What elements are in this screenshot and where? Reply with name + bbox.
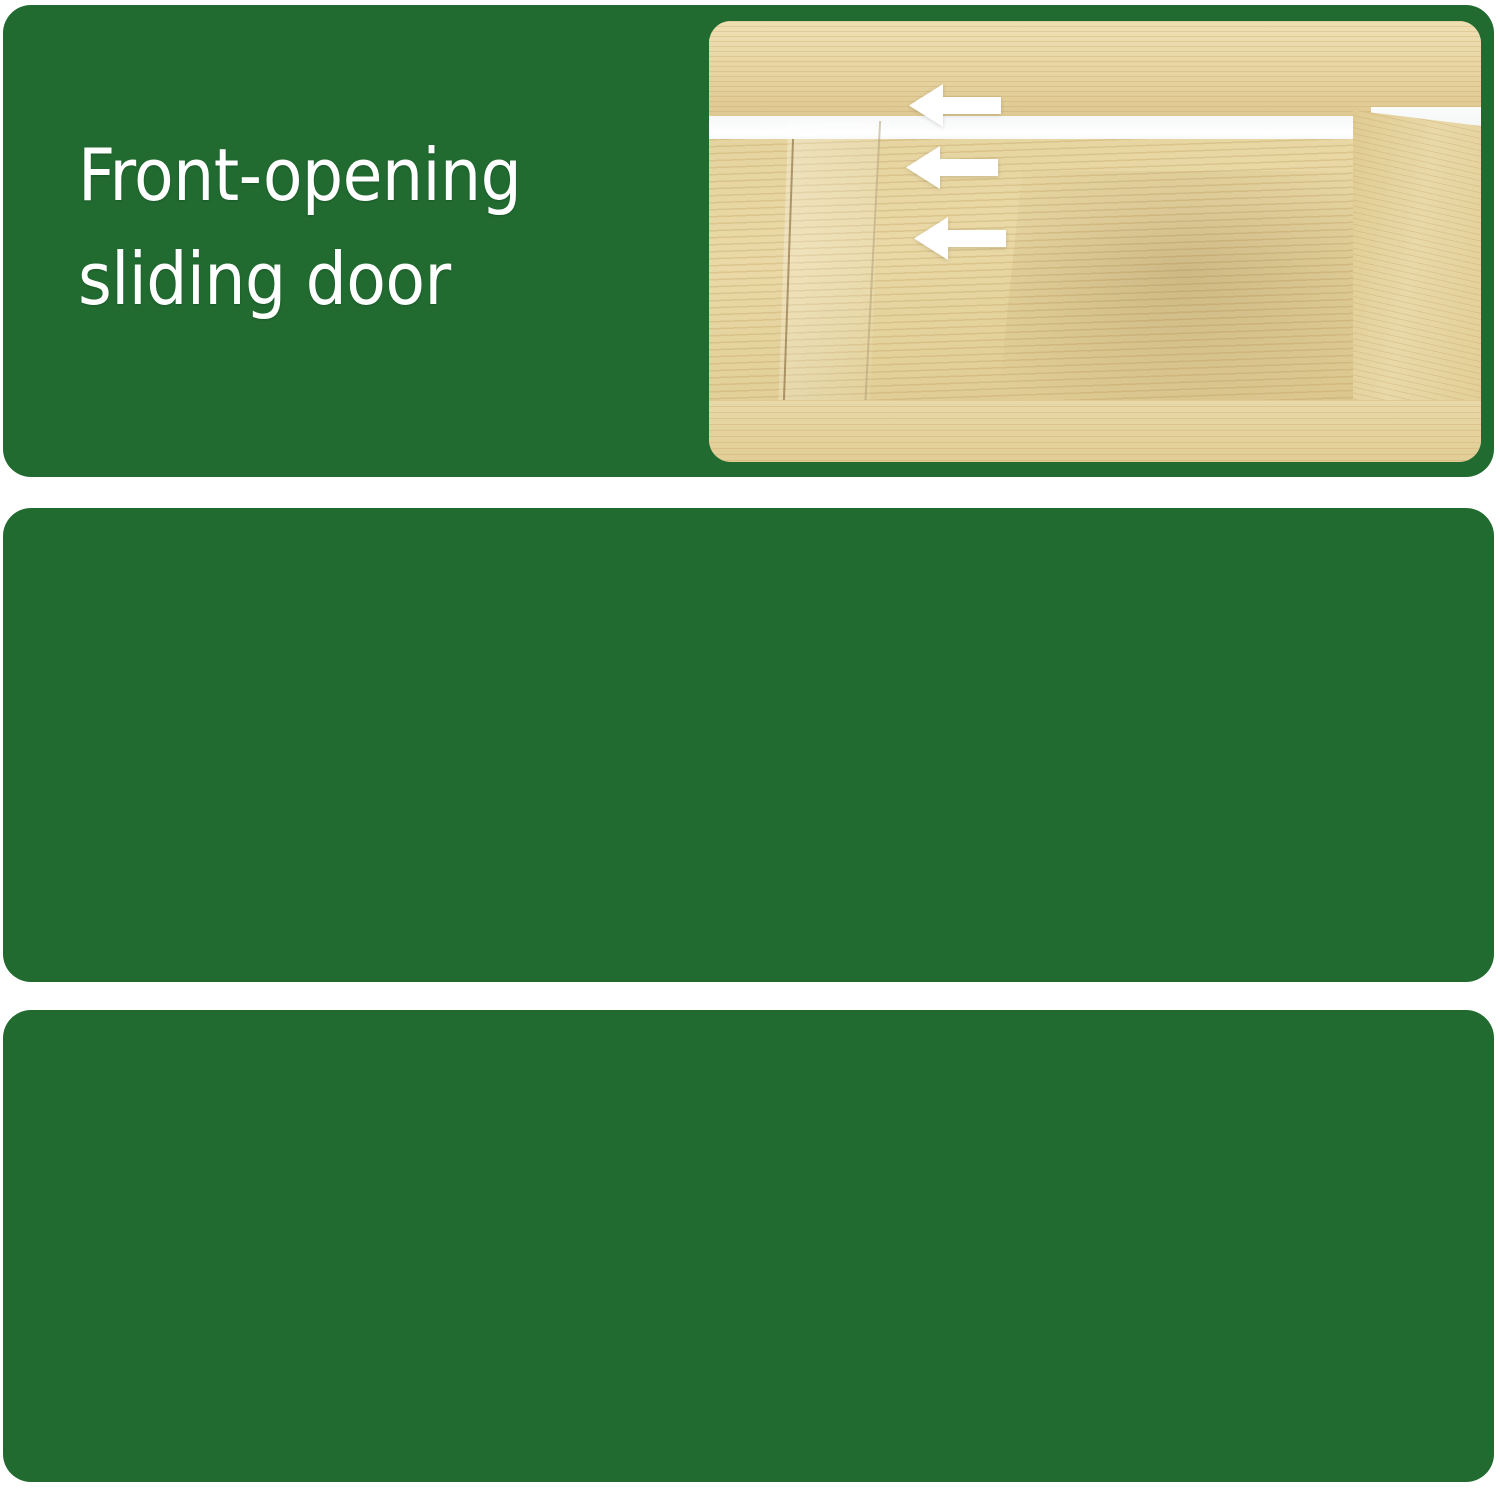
feature-panel-removable-bottom: Removable clear bottom panel, moisture-p… [3,508,1494,982]
infographic-page: Front-opening sliding door [0,0,1500,1489]
arrow-left-icon [914,217,1006,260]
wood-base-rail [709,400,1481,462]
panel-1-headline: Front-opening sliding door [78,123,678,331]
wood-top-board [709,21,1481,116]
panel-1-photo-sliding-door [709,21,1481,462]
feature-panel-thickened-material: Thickened material, stable structure [3,1010,1494,1482]
feature-panel-sliding-door: Front-opening sliding door [3,5,1494,477]
arrow-left-icon [909,84,1001,127]
arrow-left-icon [906,146,998,189]
